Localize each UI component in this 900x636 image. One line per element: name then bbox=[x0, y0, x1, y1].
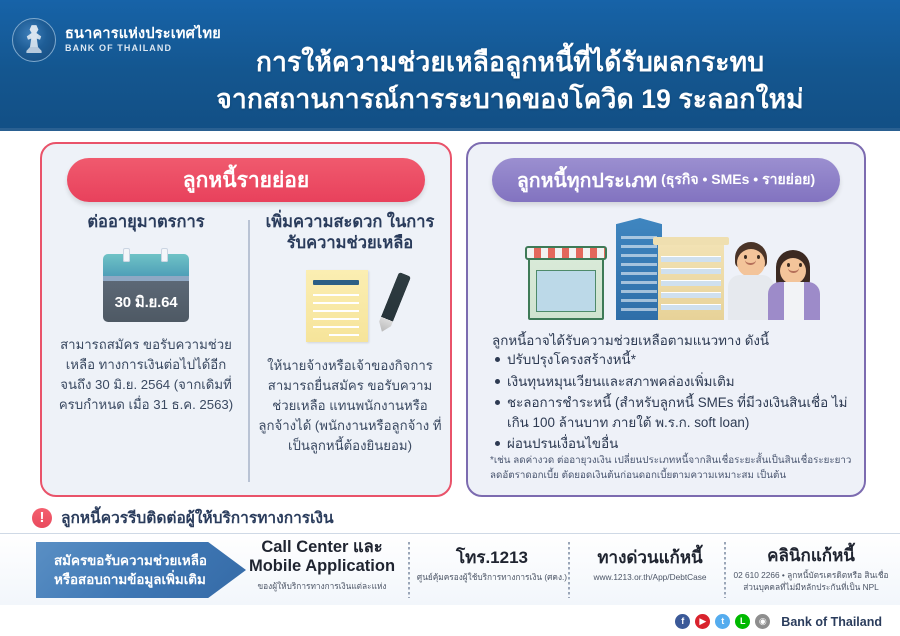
contact-strip: สมัครขอรับความช่วยเหลือ หรือสอบถามข้อมูล… bbox=[0, 533, 900, 605]
page-header: ธนาคารแห่งประเทศไทย BANK OF THAILAND การ… bbox=[0, 0, 900, 131]
column-heading: เพิ่มความสะดวก ในการรับความช่วยเหลือ bbox=[250, 212, 450, 254]
small-shop-icon bbox=[528, 256, 604, 320]
column-heading: ต่ออายุมาตรการ bbox=[46, 212, 246, 233]
apply-arrow-banner: สมัครขอรับความช่วยเหลือ หรือสอบถามข้อมูล… bbox=[36, 542, 246, 598]
channel-subtitle: ศูนย์คุ้มครองผู้ใช้บริการทางการเงิน (ศคง… bbox=[412, 572, 572, 584]
line-icon[interactable]: L bbox=[735, 614, 750, 629]
channel-subtitle: www.1213.or.th/App/DebtCase bbox=[575, 572, 725, 584]
youtube-icon[interactable]: ▶ bbox=[695, 614, 710, 629]
list-item: ชะลอการชำระหนี้ (สำหรับลูกหนี้ SMEs ที่ม… bbox=[492, 393, 854, 432]
contact-channel-debt-clinic[interactable]: คลินิกแก้หนี้ 02 610 2266 • ลูกหนี้บัตรเ… bbox=[730, 538, 892, 593]
content-stage: ลูกหนี้รายย่อย ต่ออายุมาตรการ 30 มิ.ย.64… bbox=[0, 131, 900, 636]
footer-brand-name: Bank of Thailand bbox=[781, 615, 882, 629]
calendar-icon: 30 มิ.ย.64 bbox=[103, 248, 189, 322]
assistance-footnote: *เช่น ลดค่างวด ต่ออายุวงเงิน เปลี่ยนประเ… bbox=[490, 454, 858, 484]
buildings-shop-people-illustration bbox=[468, 210, 864, 320]
column-extend-measure: ต่ออายุมาตรการ 30 มิ.ย.64 สามารถสมัคร ขอ… bbox=[46, 212, 246, 415]
channel-title-line-1: โทร.1213 bbox=[412, 548, 572, 568]
list-item: ปรับปรุงโครงสร้างหนี้* bbox=[492, 350, 854, 370]
channel-title-line-2: Mobile Application bbox=[242, 557, 402, 576]
office-tower-icon bbox=[616, 218, 662, 320]
contact-channel-call-center[interactable]: Call Center และ Mobile Application ของผู… bbox=[242, 538, 402, 593]
channel-subtitle: ของผู้ให้บริการทางการเงินแต่ละแห่ง bbox=[242, 581, 402, 593]
page-footer: f ▶ t L ◉ Bank of Thailand bbox=[0, 607, 900, 636]
pill-sub-label: (ธุรกิจ • SMEs • รายย่อย) bbox=[661, 169, 815, 191]
retail-debtor-pill: ลูกหนี้รายย่อย bbox=[67, 158, 425, 202]
alert-row: ! ลูกหนี้ควรรีบติดต่อผู้ให้บริการทางการเ… bbox=[32, 505, 334, 530]
all-debtor-types-card: ลูกหนี้ทุกประเภท (ธุรกิจ • SMEs • รายย่อ… bbox=[466, 142, 866, 497]
channel-title-line-1: Call Center และ bbox=[242, 538, 402, 557]
alert-text: ลูกหนี้ควรรีบติดต่อผู้ให้บริการทางการเงิ… bbox=[61, 505, 334, 530]
page-title-line-2: จากสถานการณ์การระบาดของโควิด 19 ระลอกใหม… bbox=[130, 81, 890, 118]
channel-title-line-1: คลินิกแก้หนี้ bbox=[730, 546, 892, 566]
instagram-icon[interactable]: ◉ bbox=[755, 614, 770, 629]
facebook-icon[interactable]: f bbox=[675, 614, 690, 629]
page-title-line-1: การให้ความช่วยเหลือลูกหนี้ที่ได้รับผลกระ… bbox=[130, 44, 890, 81]
mid-rise-building-icon bbox=[658, 244, 724, 320]
person-female-icon bbox=[768, 250, 820, 320]
dotted-separator bbox=[408, 542, 410, 598]
column-body-text: สามารถสมัคร ขอรับความช่วยเหลือ ทางการเงิ… bbox=[46, 331, 246, 415]
channel-title-line-1: ทางด่วนแก้หนี้ bbox=[575, 548, 725, 568]
list-item: เงินทุนหมุนเวียนและสภาพคล่องเพิ่มเติม bbox=[492, 372, 854, 392]
page-title: การให้ความช่วยเหลือลูกหนี้ที่ได้รับผลกระ… bbox=[130, 44, 890, 117]
pill-main-label: ลูกหนี้ทุกประเภท bbox=[517, 165, 657, 196]
channel-subtitle: 02 610 2266 • ลูกหนี้บัตรเครดิตหรือ สินเ… bbox=[730, 570, 892, 593]
all-debtor-types-pill: ลูกหนี้ทุกประเภท (ธุรกิจ • SMEs • รายย่อ… bbox=[492, 158, 840, 202]
exclamation-icon: ! bbox=[32, 508, 52, 528]
retail-debtor-card: ลูกหนี้รายย่อย ต่ออายุมาตรการ 30 มิ.ย.64… bbox=[40, 142, 452, 497]
assistance-lead-text: ลูกหนี้อาจได้รับความช่วยเหลือตามแนวทาง ด… bbox=[492, 330, 850, 351]
logo-thai-name: ธนาคารแห่งประเทศไทย bbox=[65, 27, 221, 42]
calendar-date-label: 30 มิ.ย.64 bbox=[115, 290, 178, 314]
contact-channel-debt-expressway[interactable]: ทางด่วนแก้หนี้ www.1213.or.th/App/DebtCa… bbox=[575, 538, 725, 584]
document-pen-icon bbox=[298, 266, 402, 346]
column-easier-access: เพิ่มความสะดวก ในการรับความช่วยเหลือ ใ bbox=[250, 212, 450, 457]
column-body-text: ให้นายจ้างหรือเจ้าของกิจการ สามารถยื่นสม… bbox=[250, 352, 450, 456]
twitter-icon[interactable]: t bbox=[715, 614, 730, 629]
arrow-line-2: หรือสอบถามข้อมูลเพิ่มเติม bbox=[54, 570, 206, 589]
assistance-bullet-list: ปรับปรุงโครงสร้างหนี้* เงินทุนหมุนเวียนแ… bbox=[492, 350, 854, 456]
bot-seal-icon bbox=[12, 18, 56, 62]
list-item: ผ่อนปรนเงื่อนไขอื่น bbox=[492, 434, 854, 454]
contact-channel-hotline[interactable]: โทร.1213 ศูนย์คุ้มครองผู้ใช้บริการทางการ… bbox=[412, 538, 572, 584]
arrow-line-1: สมัครขอรับความช่วยเหลือ bbox=[54, 551, 207, 570]
